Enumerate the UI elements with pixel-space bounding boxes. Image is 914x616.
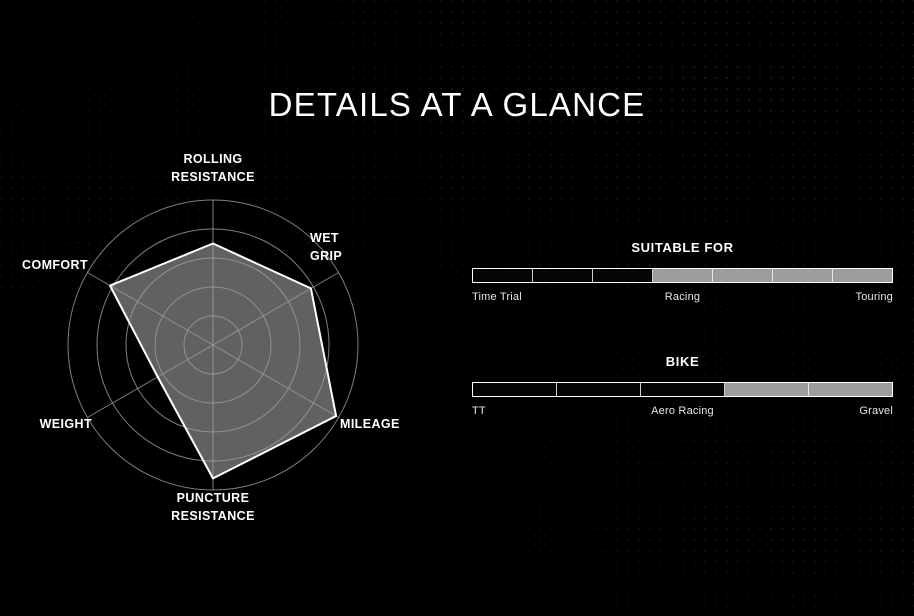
radar-label-wet-grip: WET GRIP <box>310 229 400 265</box>
rating-label-mid-suitable-for: Racing <box>665 291 700 303</box>
rating-title-suitable-for: SUITABLE FOR <box>472 240 893 255</box>
rating-segment[interactable] <box>557 383 641 396</box>
rating-label-start-suitable-for: Time Trial <box>472 291 522 303</box>
rating-label-end-bike: Gravel <box>859 405 893 417</box>
radar-label-puncture-resistance-line1: PUNCTURE <box>143 489 283 507</box>
rating-label-start-bike: TT <box>472 405 486 417</box>
radar-label-weight: WEIGHT <box>0 415 92 433</box>
rating-segment[interactable] <box>473 269 533 282</box>
rating-segment[interactable] <box>473 383 557 396</box>
radar-label-rolling-resistance: ROLLING RESISTANCE <box>143 150 283 186</box>
rating-labels-bike: TT Aero Racing Gravel <box>472 405 893 421</box>
rating-segment[interactable] <box>809 383 892 396</box>
radar-label-wet-grip-line1: WET <box>310 229 400 247</box>
rating-label-end-suitable-for: Touring <box>856 291 893 303</box>
rating-bar-suitable-for[interactable] <box>472 268 893 283</box>
radar-label-mileage: MILEAGE <box>340 415 430 433</box>
rating-segment[interactable] <box>773 269 833 282</box>
radar-label-wet-grip-line2: GRIP <box>310 247 400 265</box>
radar-label-rolling-resistance-line1: ROLLING <box>143 150 283 168</box>
radar-series-polygon <box>110 244 336 479</box>
radar-label-puncture-resistance: PUNCTURE RESISTANCE <box>143 489 283 525</box>
rating-segment[interactable] <box>533 269 593 282</box>
rating-segment[interactable] <box>641 383 725 396</box>
radar-label-comfort: COMFORT <box>0 256 88 274</box>
rating-group-suitable-for: SUITABLE FOR Time Trial Racing Touring <box>472 240 893 307</box>
rating-label-mid-bike: Aero Racing <box>651 405 714 417</box>
rating-segment[interactable] <box>833 269 892 282</box>
radar-label-puncture-resistance-line2: RESISTANCE <box>143 507 283 525</box>
rating-group-bike: BIKE TT Aero Racing Gravel <box>472 354 893 421</box>
rating-bar-bike[interactable] <box>472 382 893 397</box>
radar-chart: ROLLING RESISTANCE WET GRIP MILEAGE PUNC… <box>0 140 430 540</box>
rating-title-bike: BIKE <box>472 354 893 369</box>
rating-segment[interactable] <box>725 383 809 396</box>
radar-chart-svg <box>0 140 430 540</box>
rating-segment[interactable] <box>713 269 773 282</box>
radar-label-rolling-resistance-line2: RESISTANCE <box>143 168 283 186</box>
rating-labels-suitable-for: Time Trial Racing Touring <box>472 291 893 307</box>
rating-segment[interactable] <box>653 269 713 282</box>
rating-segment[interactable] <box>593 269 653 282</box>
page-title: DETAILS AT A GLANCE <box>0 86 914 124</box>
